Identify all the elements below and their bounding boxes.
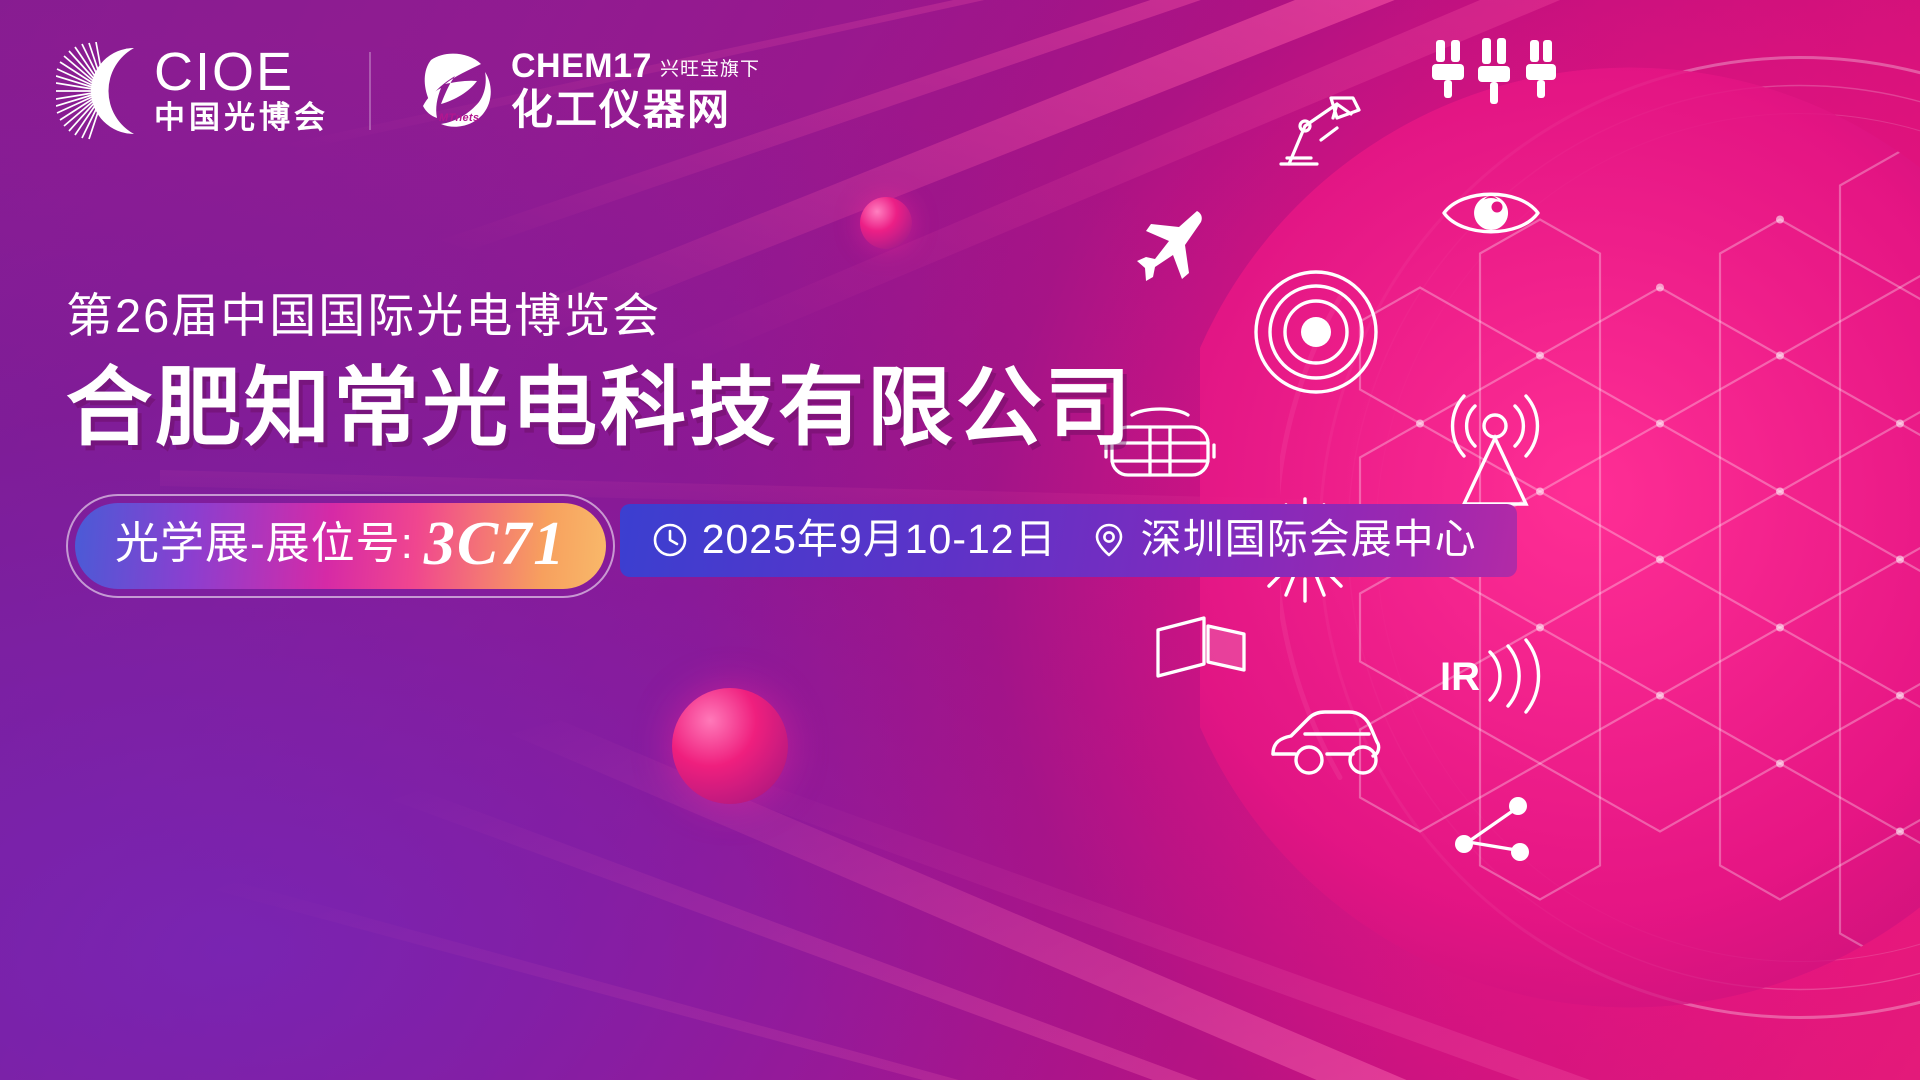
cioe-logo-text: CIOE 中国光博会 — [154, 46, 329, 137]
info-bar: 2025年9月10-12日 深圳国际会展中心 — [620, 504, 1517, 577]
event-title: 第26届中国国际光电博览会 — [66, 288, 1517, 344]
chem17-logo: MTnets CHEM17 兴旺宝旗下 化工仪器网 — [411, 48, 760, 134]
chem17-english-name: CHEM17 — [511, 49, 652, 83]
cioe-burst-c-icon — [56, 42, 138, 140]
booth-badge: 光学展-展位号: 3C71 — [66, 494, 615, 598]
promo-banner: IR — [0, 0, 1920, 1080]
large-sphere — [672, 688, 788, 804]
small-sphere — [860, 197, 912, 249]
cioe-english-name: CIOE — [154, 46, 329, 99]
chem17-chinese-name: 化工仪器网 — [511, 87, 760, 133]
car-icon — [1265, 702, 1385, 784]
venue-item: 深圳国际会展中心 — [1091, 516, 1477, 563]
chem17-sub-chinese: 兴旺宝旗下 — [660, 60, 760, 83]
booth-pill: 光学展-展位号: 3C71 — [75, 503, 606, 589]
date-item: 2025年9月10-12日 — [652, 516, 1057, 563]
chem17-logo-text: CHEM17 兴旺宝旗下 化工仪器网 — [511, 49, 760, 133]
logo-divider — [369, 52, 371, 130]
event-date: 2025年9月10-12日 — [702, 516, 1057, 563]
logo-bar: CIOE 中国光博会 MTnets CHEM17 — [56, 42, 760, 140]
cioe-chinese-name: 中国光博会 — [154, 99, 329, 137]
plug-connectors-icon — [1430, 38, 1560, 108]
cioe-logo: CIOE 中国光博会 — [56, 42, 329, 140]
venue-name: 深圳国际会展中心 — [1141, 516, 1477, 563]
mtnets-text: MTnets — [439, 112, 479, 124]
robot-arm-icon — [1275, 92, 1367, 172]
film-cards-icon — [1152, 612, 1250, 684]
content-block: 第26届中国国际光电博览会 合肥知常光电科技有限公司 光学展-展位号: 3C71… — [66, 288, 1517, 598]
company-name: 合肥知常光电科技有限公司 — [66, 358, 1517, 459]
clock-icon — [652, 522, 688, 558]
location-pin-icon — [1091, 522, 1127, 558]
booth-number: 3C71 — [424, 513, 566, 575]
network-nodes-icon — [1452, 790, 1538, 866]
eye-icon — [1440, 182, 1542, 244]
svg-text:IR: IR — [1440, 655, 1480, 699]
airplane-icon — [1135, 205, 1215, 285]
chem17-globe-icon: MTnets — [411, 48, 497, 134]
ir-sensor-icon: IR — [1438, 638, 1548, 714]
booth-label: 光学展-展位号: — [115, 522, 414, 566]
